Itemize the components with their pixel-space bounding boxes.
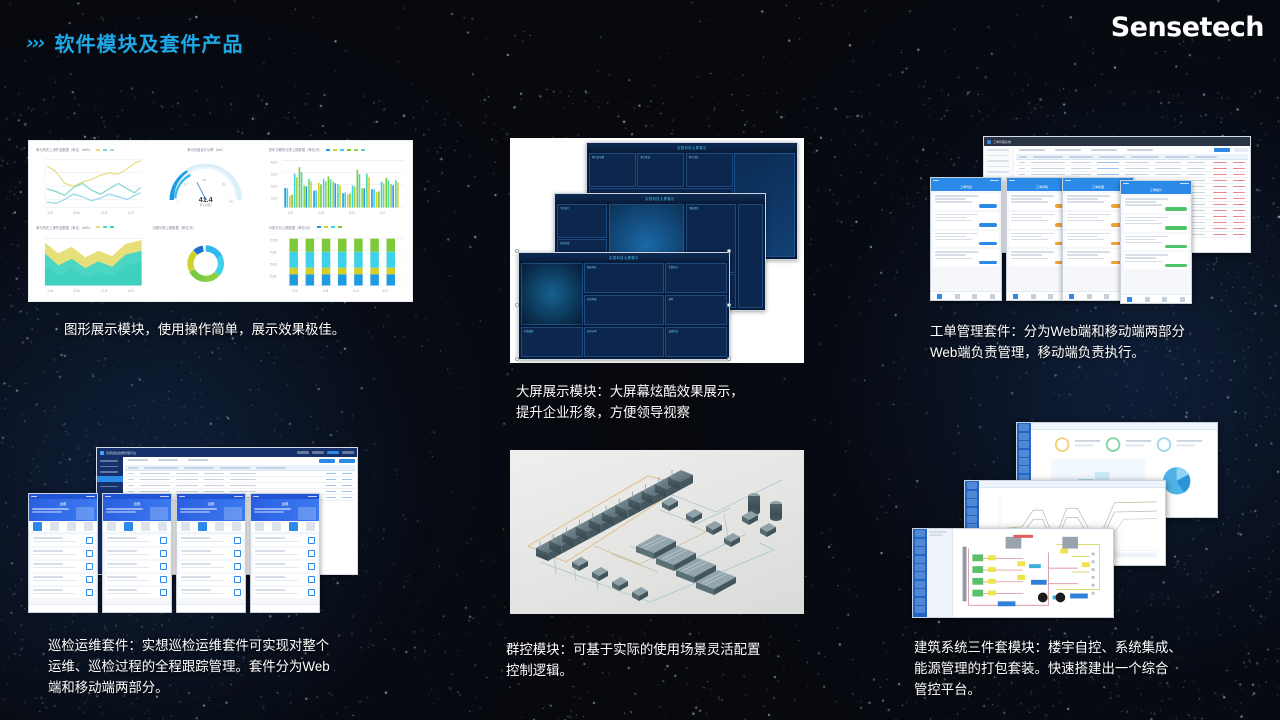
- chart-canvas-stacked-bar: 100,00075,000 50,00025,000 02-0102-08 02…: [269, 232, 405, 294]
- list-item[interactable]: [179, 561, 243, 572]
- svg-text:100,000: 100,000: [270, 237, 278, 242]
- selection-handle-mr[interactable]: [727, 303, 731, 307]
- svg-text:10,000: 10,000: [270, 196, 277, 201]
- slide-header: ››› 软件模块及套件产品 Sensetech: [0, 0, 1280, 70]
- list-item[interactable]: [933, 193, 999, 210]
- svg-text:02-22: 02-22: [379, 211, 385, 216]
- legend-line: [96, 149, 114, 151]
- chart-panel-gauge: 单元机组设计功率（kW） 0 50 100 150 200: [148, 144, 263, 221]
- work-order-web-and-mobile-screenshot[interactable]: 工单管理系统: [928, 130, 1254, 305]
- list-item[interactable]: [253, 548, 317, 559]
- mobile-list[interactable]: [103, 533, 171, 604]
- tab-bar[interactable]: [29, 604, 97, 612]
- big-screen-dashboards-screenshot[interactable]: 实想科技大屏展示 累计发电量 累计收益 累计减排 实想科技大屏展示 今日天气 用…: [510, 138, 804, 363]
- mobile-hero: 运维: [251, 499, 319, 521]
- list-item[interactable]: [933, 231, 999, 248]
- inspection-desktop-title: 实想巡检运维管理平台: [106, 451, 136, 455]
- mobile-screen[interactable]: 工单统计: [1120, 180, 1192, 304]
- tab-bar[interactable]: [931, 291, 1001, 300]
- chart-canvas-area: 02-0102-08 02-1502-22: [36, 232, 143, 294]
- quick-actions[interactable]: [29, 521, 97, 533]
- list-item[interactable]: [179, 587, 243, 598]
- list-item[interactable]: [1123, 215, 1189, 232]
- chart-canvas-gauge: 0 50 100 150 200 41.4 单元机组1: [152, 154, 259, 216]
- svg-text:02-01: 02-01: [48, 288, 54, 293]
- mobile-nav-title: 工单统计: [1121, 186, 1191, 194]
- selection-handle-bl[interactable]: [515, 357, 519, 361]
- legend-grouped-bar: [326, 149, 365, 151]
- caption-work-order-suite: 工单管理套件：分为Web端和移动端两部分 Web端负责管理，移动端负责执行。: [930, 322, 1260, 364]
- caption-building-system-suite: 建筑系统三件套模块：楼宇自控、系统集成、 能源管理的打包套装。快速搭建出一个综合…: [914, 638, 1254, 700]
- chart-panel-grouped-bar: 历年当期的分类上报数据（单位/天） 40,00030,000 20,00010,…: [265, 144, 409, 221]
- svg-text:02-01: 02-01: [292, 288, 298, 293]
- svg-text:02-08: 02-08: [318, 211, 324, 216]
- svg-text:150: 150: [222, 185, 227, 187]
- caption-inspection-ops-suite: 巡检运维套件：实想巡检运维套件可实现对整个 运维、巡检过程的全程跟踪管理。套件分…: [48, 636, 418, 698]
- app-icon: [987, 140, 991, 144]
- work-order-desktop-title: 工单管理系统: [993, 140, 1011, 144]
- list-item[interactable]: [105, 574, 169, 585]
- big-screen-front-title: 实想科技大屏展示: [519, 253, 729, 261]
- list-item[interactable]: [105, 561, 169, 572]
- selection-handle-tr[interactable]: [727, 249, 731, 253]
- mobile-list[interactable]: [29, 533, 97, 604]
- chart-canvas-donut: [152, 232, 259, 294]
- list-item[interactable]: [105, 535, 169, 546]
- list-item[interactable]: [933, 249, 999, 266]
- mobile-hero: 运维: [103, 499, 171, 521]
- svg-text:02-08: 02-08: [74, 288, 80, 293]
- brand-logo: Sensetech: [1111, 12, 1264, 43]
- selection-handle-tl[interactable]: [515, 249, 519, 253]
- selection-handle-br[interactable]: [727, 357, 731, 361]
- list-item[interactable]: [31, 574, 95, 585]
- list-item[interactable]: [1123, 252, 1189, 269]
- chevrons-right-icon: ›››: [24, 32, 46, 54]
- list-item[interactable]: [31, 587, 95, 598]
- svg-text:02-22: 02-22: [128, 211, 134, 216]
- quick-actions[interactable]: [251, 521, 319, 533]
- svg-text:02-15: 02-15: [101, 288, 107, 293]
- list-item[interactable]: [253, 535, 317, 546]
- svg-text:02-15: 02-15: [101, 211, 107, 216]
- caption-big-screen-module: 大屏展示模块：大屏幕炫酷效果展示， 提升企业形象，方便领导视察: [516, 382, 846, 424]
- bms-sidebar-3[interactable]: [913, 529, 927, 617]
- mobile-hero: 运维: [177, 499, 245, 521]
- svg-text:30,000: 30,000: [270, 172, 277, 177]
- chart-title-area: 单元历史上报外送数据（单位：kWh）: [36, 225, 92, 230]
- inspection-web-and-mobile-screenshot[interactable]: 实想巡检运维管理平台: [28, 445, 358, 613]
- big-screen-front[interactable]: 实想科技大屏展示 能耗排名 告警统计 分项用能 效率 分类能耗 实时功率 设备状…: [518, 252, 730, 360]
- bms-scada-page[interactable]: [912, 528, 1114, 618]
- chart-title-donut: 当期分类上报数据（单位/天）: [152, 225, 196, 230]
- mobile-content[interactable]: [931, 191, 1001, 300]
- list-item[interactable]: [31, 548, 95, 559]
- tab-bar[interactable]: [251, 604, 319, 612]
- list-item[interactable]: [105, 587, 169, 598]
- chart-canvas-line: 02-0102-08 02-1502-22: [36, 154, 143, 216]
- list-item[interactable]: [105, 548, 169, 559]
- svg-text:25,000: 25,000: [270, 273, 277, 278]
- svg-text:02-01: 02-01: [48, 211, 54, 216]
- legend-stacked-bar: [317, 226, 342, 228]
- mobile-screen[interactable]: 工单列表: [930, 177, 1002, 301]
- list-item[interactable]: [179, 574, 243, 585]
- list-item[interactable]: [933, 212, 999, 229]
- svg-text:75,000: 75,000: [270, 249, 277, 254]
- selection-handle-ml[interactable]: [515, 303, 519, 307]
- big-screen-middle-title: 实想科技大屏展示: [555, 194, 765, 202]
- mobile-nav-title: 工单列表: [931, 183, 1001, 191]
- list-item[interactable]: [1123, 196, 1189, 213]
- tab-bar[interactable]: [1121, 294, 1191, 303]
- chart-title-stacked-bar: 分类分月上报数据（单位/月）: [269, 225, 313, 230]
- mobile-hero: 运维: [29, 499, 97, 521]
- building-management-system-screenshot[interactable]: [906, 418, 1224, 622]
- svg-text:40,000: 40,000: [270, 160, 277, 165]
- chart-panel-area: 单元历史上报外送数据（单位：kWh） 02-0102-08 02-1502-22: [32, 222, 147, 299]
- svg-text:02-15: 02-15: [353, 288, 359, 293]
- legend-area: [96, 226, 114, 228]
- caption-graphic-display-module: 图形展示模块，使用操作简单，展示效果极佳。: [64, 320, 424, 341]
- svg-text:20,000: 20,000: [270, 184, 277, 189]
- list-item[interactable]: [31, 535, 95, 546]
- mobile-screen[interactable]: 运维: [176, 493, 246, 613]
- svg-text:0: 0: [177, 202, 179, 204]
- tab-bar[interactable]: [177, 604, 245, 612]
- mobile-list[interactable]: [177, 533, 245, 604]
- gauge-label: 单元机组1: [200, 203, 213, 207]
- svg-text:02-01: 02-01: [287, 211, 293, 216]
- mobile-content[interactable]: [1121, 194, 1191, 303]
- chart-title-line: 单元历史上用外送数据（单位：kWh）: [36, 147, 92, 152]
- mobile-screen[interactable]: 运维: [102, 493, 172, 613]
- svg-text:02-22: 02-22: [128, 288, 134, 293]
- list-item[interactable]: [253, 561, 317, 572]
- app-icon: [100, 451, 104, 455]
- svg-text:02-08: 02-08: [74, 211, 80, 216]
- svg-text:02-08: 02-08: [322, 288, 328, 293]
- chart-panel-stacked-bar: 分类分月上报数据（单位/月） 100,00075,000 50,00025,00…: [265, 222, 409, 299]
- list-item[interactable]: [253, 587, 317, 598]
- page-title: 软件模块及套件产品: [55, 28, 244, 57]
- chart-title-grouped-bar: 历年当期的分类上报数据（单位/天）: [269, 147, 323, 152]
- mobile-list[interactable]: [251, 533, 319, 604]
- mobile-screen[interactable]: 运维: [250, 493, 320, 613]
- svg-text:200: 200: [229, 202, 234, 204]
- big-screen-back-title: 实想科技大屏展示: [587, 143, 797, 151]
- svg-text:02-15: 02-15: [349, 211, 355, 216]
- mobile-screen[interactable]: 运维: [28, 493, 98, 613]
- svg-text:50: 50: [185, 185, 188, 187]
- chart-panel-line: 单元历史上用外送数据（单位：kWh） 02-0102-08 02-: [32, 144, 147, 221]
- svg-text:100: 100: [202, 180, 207, 182]
- list-item[interactable]: [253, 574, 317, 585]
- chart-title-gauge: 单元机组设计功率（kW）: [187, 147, 225, 152]
- chart-canvas-grouped-bar: 40,00030,000 20,00010,000 02-0102-08 02-…: [269, 154, 405, 216]
- svg-text:02-22: 02-22: [382, 288, 388, 293]
- quick-actions[interactable]: [103, 521, 171, 533]
- quick-actions[interactable]: [177, 521, 245, 533]
- isometric-chiller-plant-diagram[interactable]: [510, 450, 804, 614]
- chart-panel-donut: 当期分类上报数据（单位/天）: [148, 222, 263, 299]
- list-item[interactable]: [179, 535, 243, 546]
- gauge-value: 41.4: [199, 196, 213, 204]
- list-item[interactable]: [179, 548, 243, 559]
- list-item[interactable]: [31, 561, 95, 572]
- caption-group-control-module: 群控模块：可基于实际的使用场景灵活配置 控制逻辑。: [506, 640, 836, 682]
- svg-text:50,000: 50,000: [270, 261, 277, 266]
- list-item[interactable]: [1123, 234, 1189, 251]
- tab-bar[interactable]: [103, 604, 171, 612]
- charts-dashboard-screenshot[interactable]: 单元历史上用外送数据（单位：kWh） 02-0102-08 02-: [28, 140, 413, 302]
- page-title-group: ››› 软件模块及套件产品: [26, 28, 244, 57]
